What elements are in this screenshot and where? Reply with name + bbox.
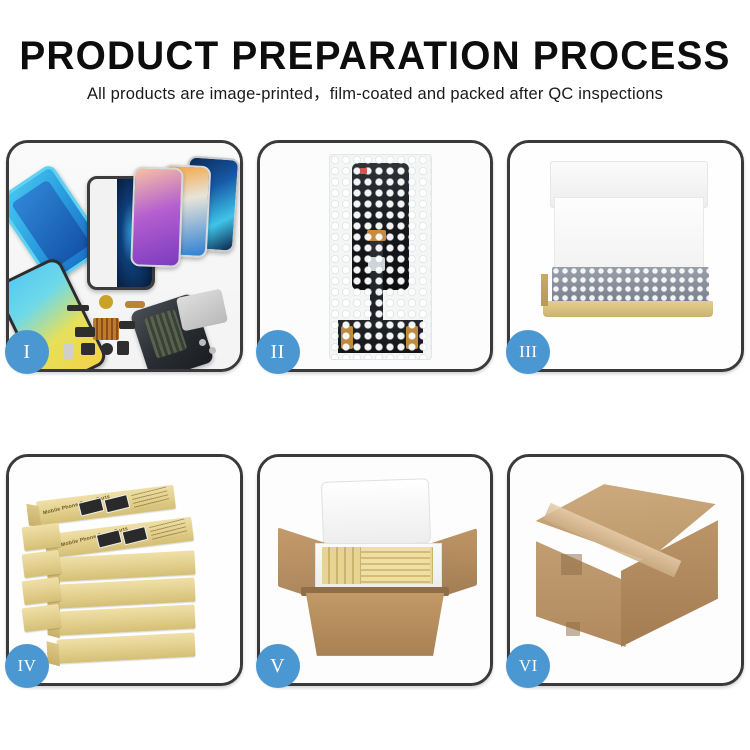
screw-part — [209, 347, 216, 354]
process-steps-grid: I II — [6, 140, 744, 686]
foam-box-lid — [321, 478, 431, 547]
retail-box-left-stacked — [22, 550, 62, 578]
flex-cable-part — [125, 301, 145, 308]
step-1-image — [9, 143, 240, 369]
step-badge-1: I — [5, 330, 49, 374]
page-subtitle: All products are image-printed，film-coat… — [0, 83, 750, 105]
antenna-part — [119, 321, 135, 329]
tape-tab — [566, 622, 580, 636]
screen-bottom-assembly — [338, 320, 423, 353]
screw-part — [199, 339, 206, 346]
sim-tray-part — [64, 343, 73, 359]
step-6-image — [510, 457, 741, 683]
retail-box-stacked — [57, 578, 196, 609]
packed-yellow-boxes-row2 — [361, 547, 430, 583]
phone-purple — [130, 166, 183, 268]
kraft-tray-front — [543, 301, 714, 317]
box-stack: Mobile Phone Spare Parts Mobile Phone Sp… — [9, 457, 240, 683]
box-side — [47, 640, 61, 665]
step-5-image — [260, 457, 491, 683]
step-panel-3: III — [507, 140, 744, 372]
small-chip-part — [81, 343, 95, 355]
red-label-sticker — [360, 168, 367, 174]
step-panel-5: V — [257, 454, 494, 686]
connector-part — [75, 327, 95, 337]
retail-box-stacked — [57, 632, 196, 663]
step-panel-4: Mobile Phone Spare Parts Mobile Phone Sp… — [6, 454, 243, 686]
header: PRODUCT PREPARATION PROCESS All products… — [0, 0, 750, 130]
step-badge-2: II — [256, 330, 300, 374]
step-badge-5: V — [256, 644, 300, 688]
product-preparation-infographic: PRODUCT PREPARATION PROCESS All products… — [0, 0, 750, 750]
page-title: PRODUCT PREPARATION PROCESS — [11, 33, 739, 79]
vibrator-part — [101, 343, 113, 355]
retail-box-left-stacked — [22, 523, 62, 551]
lcd-screen — [352, 163, 409, 289]
bubble-wrap-bag — [329, 154, 432, 359]
retail-box-left-stacked — [22, 577, 62, 605]
camera-module-part — [93, 318, 119, 340]
step-badge-6: VI — [506, 644, 550, 688]
step-4-image: Mobile Phone Spare Parts Mobile Phone Sp… — [9, 457, 240, 683]
step-badge-3: III — [506, 330, 550, 374]
button-part — [67, 305, 89, 311]
tape-tab — [561, 554, 582, 574]
speaker-part — [99, 295, 113, 309]
screen-connector — [368, 257, 384, 271]
step-panel-1: I — [6, 140, 243, 372]
battery-part — [117, 341, 129, 355]
kraft-tray-side — [541, 274, 548, 306]
flex-cable — [370, 237, 382, 343]
step-badge-4: IV — [5, 644, 49, 688]
carton-body — [306, 593, 444, 656]
step-3-image — [510, 143, 741, 369]
step-panel-2: II — [257, 140, 494, 372]
retail-box-left-stacked — [22, 604, 62, 632]
step-2-image — [260, 143, 491, 369]
bubble-padding — [552, 267, 709, 303]
step-panel-6: VI — [507, 454, 744, 686]
retail-box-stacked — [57, 605, 196, 636]
